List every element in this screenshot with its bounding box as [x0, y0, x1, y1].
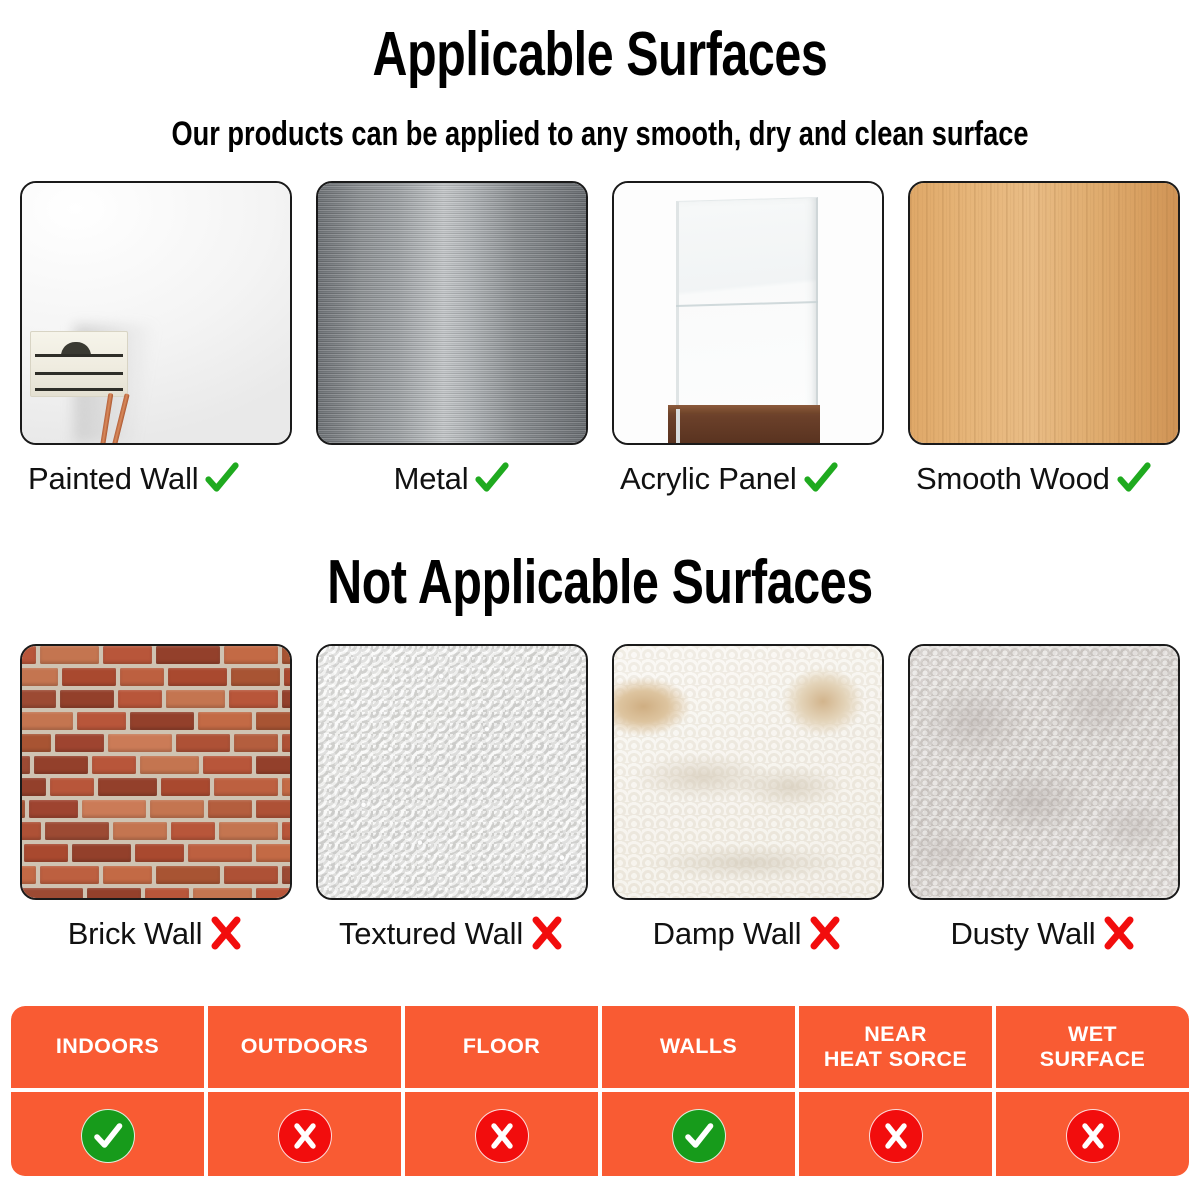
applicable-surfaces-row: Painted Wall Metal: [20, 181, 1180, 501]
brick: [256, 756, 290, 774]
brick: [135, 844, 184, 862]
brick: [92, 756, 136, 774]
cabinet-edge-line: [35, 354, 123, 357]
matrix-header-wet-surface: WETSURFACE: [996, 1006, 1189, 1088]
brick: [55, 734, 104, 752]
surface-image-acrylic-panel: [612, 181, 884, 445]
not-applicable-surfaces-row: Brick Wall Textured Wall: [20, 644, 1180, 956]
brick: [166, 690, 225, 708]
matrix-header-indoors: INDOORS: [11, 1006, 204, 1088]
brick: [208, 800, 252, 818]
matrix-status-indoors: [11, 1092, 204, 1176]
brick: [45, 822, 109, 840]
matrix-header-label: FLOOR: [459, 1034, 544, 1059]
brick-course: [22, 690, 290, 712]
brick: [156, 866, 220, 884]
brushed-metal-texture: [318, 183, 586, 443]
brick: [22, 668, 58, 686]
brick: [40, 866, 99, 884]
textured-wall-texture: [318, 646, 586, 898]
brick: [22, 756, 30, 774]
circle-check-icon: [81, 1109, 135, 1163]
surface-card-dusty-wall: Dusty Wall: [908, 644, 1180, 956]
brick: [108, 734, 172, 752]
brick: [103, 646, 152, 664]
surface-image-textured-wall: [316, 644, 588, 900]
brick: [168, 668, 227, 686]
matrix-header-label: WETSURFACE: [1036, 1022, 1150, 1073]
surface-card-textured-wall: Textured Wall: [316, 644, 588, 956]
brick-course: [22, 800, 290, 822]
brick-course: [22, 866, 290, 888]
brick: [22, 866, 36, 884]
matrix-status-near-heat-source: [799, 1092, 992, 1176]
brick: [50, 778, 94, 796]
check-mark-icon: [474, 460, 510, 496]
matrix-header-label: OUTDOORS: [237, 1034, 372, 1059]
brick-course: [22, 668, 290, 690]
surface-caption-dusty-wall: Dusty Wall: [908, 910, 1180, 956]
applicable-section-title-wrap: Applicable Surfaces: [0, 24, 1200, 86]
brick: [156, 646, 220, 664]
brick: [193, 888, 252, 898]
surface-caption-painted-wall: Painted Wall: [20, 455, 292, 501]
surface-card-acrylic-panel: Acrylic Panel: [612, 181, 884, 501]
matrix-status-wet-surface: [996, 1092, 1189, 1176]
brick: [72, 844, 131, 862]
cross-mark-icon: [807, 914, 843, 952]
surface-image-dusty-wall: [908, 644, 1180, 900]
brick: [29, 800, 78, 818]
brick: [62, 668, 116, 686]
brick: [231, 668, 280, 686]
cross-mark-icon: [208, 914, 244, 952]
matrix-header-near-heat-source: NEARHEAT SORCE: [799, 1006, 992, 1088]
acrylic-sheet: [676, 197, 818, 417]
surface-caption-smooth-wood: Smooth Wood: [908, 455, 1180, 501]
cabinet-edge-line: [35, 372, 123, 375]
acrylic-panel-texture: [614, 183, 882, 443]
smooth-wood-texture: [910, 183, 1178, 443]
surface-card-smooth-wood: Smooth Wood: [908, 181, 1180, 501]
brick: [113, 822, 167, 840]
matrix-header-label: WALLS: [656, 1034, 741, 1059]
applicable-section-title: Applicable Surfaces: [132, 24, 1068, 86]
surface-label: Metal: [394, 463, 469, 494]
brick: [282, 866, 290, 884]
surface-image-brick-wall: [20, 644, 292, 900]
brick: [282, 822, 290, 840]
cabinet-edge-line: [35, 388, 123, 391]
infographic-page: Applicable Surfaces Our products can be …: [0, 0, 1200, 1200]
brick-course: [22, 888, 290, 898]
brick: [145, 888, 189, 898]
surface-label: Textured Wall: [339, 918, 523, 949]
surface-label: Smooth Wood: [916, 463, 1110, 494]
check-mark-icon: [1116, 460, 1152, 496]
surface-card-metal: Metal: [316, 181, 588, 501]
brick-course: [22, 712, 290, 734]
circle-cross-icon: [278, 1109, 332, 1163]
surface-label: Acrylic Panel: [620, 463, 797, 494]
brick: [282, 690, 290, 708]
brick: [22, 822, 41, 840]
brick: [224, 866, 278, 884]
brick: [22, 778, 46, 796]
usage-matrix-table: INDOORS OUTDOORS FLOOR WALLS NEARHEAT SO…: [11, 1006, 1189, 1176]
surface-image-painted-wall: [20, 181, 292, 445]
brick: [256, 888, 290, 898]
brick: [98, 778, 157, 796]
surface-label: Damp Wall: [653, 918, 802, 949]
surface-caption-metal: Metal: [316, 455, 588, 501]
wood-base-top: [668, 405, 820, 414]
circle-cross-icon: [869, 1109, 923, 1163]
brick-course: [22, 822, 290, 844]
not-applicable-section-title-wrap: Not Applicable Surfaces: [0, 552, 1200, 614]
wood-base-slot: [676, 409, 680, 443]
brick-course: [22, 844, 290, 866]
brick-course: [22, 778, 290, 800]
damp-wall-texture: [614, 646, 882, 898]
brick: [150, 800, 204, 818]
brick: [60, 690, 114, 708]
matrix-header-floor: FLOOR: [405, 1006, 598, 1088]
brick: [188, 844, 252, 862]
applicable-section-subtitle: Our products can be applied to any smoot…: [120, 117, 1080, 151]
brick: [256, 844, 290, 862]
surface-card-brick-wall: Brick Wall: [20, 644, 292, 956]
brick: [171, 822, 215, 840]
brick: [130, 712, 194, 730]
cross-mark-icon: [529, 914, 565, 952]
brick-course: [22, 646, 290, 668]
matrix-header-walls: WALLS: [602, 1006, 795, 1088]
brick-course: [22, 734, 290, 756]
brick: [22, 712, 73, 730]
brick: [203, 756, 252, 774]
brick: [282, 778, 290, 796]
brick: [140, 756, 199, 774]
brick: [282, 734, 290, 752]
surface-card-painted-wall: Painted Wall: [20, 181, 292, 501]
brick: [214, 778, 278, 796]
surface-caption-brick-wall: Brick Wall: [20, 910, 292, 956]
brick: [229, 690, 278, 708]
brick: [256, 800, 290, 818]
matrix-header-label: NEARHEAT SORCE: [820, 1022, 971, 1073]
check-mark-icon: [803, 460, 839, 496]
brick: [22, 800, 25, 818]
surface-label: Brick Wall: [68, 918, 203, 949]
brick: [224, 646, 278, 664]
cross-mark-icon: [1101, 914, 1137, 952]
check-mark-icon: [204, 460, 240, 496]
dusty-wall-texture: [910, 646, 1178, 898]
brick: [198, 712, 252, 730]
brick: [284, 668, 290, 686]
circle-check-icon: [672, 1109, 726, 1163]
brick: [34, 756, 88, 774]
brick-wall-texture: [22, 646, 290, 898]
brick: [22, 734, 51, 752]
surface-label: Dusty Wall: [951, 918, 1096, 949]
painted-wall-texture: [22, 183, 290, 443]
brick: [176, 734, 230, 752]
matrix-header-label: INDOORS: [52, 1034, 163, 1059]
surface-image-smooth-wood: [908, 181, 1180, 445]
not-applicable-section-title: Not Applicable Surfaces: [132, 552, 1068, 614]
brick: [22, 690, 56, 708]
brick: [22, 888, 83, 898]
matrix-status-outdoors: [208, 1092, 401, 1176]
surface-caption-textured-wall: Textured Wall: [316, 910, 588, 956]
brick: [87, 888, 141, 898]
matrix-status-walls: [602, 1092, 795, 1176]
surface-card-damp-wall: Damp Wall: [612, 644, 884, 956]
surface-caption-damp-wall: Damp Wall: [612, 910, 884, 956]
brick: [118, 690, 162, 708]
surface-label: Painted Wall: [28, 463, 198, 494]
brick: [120, 668, 164, 686]
surface-caption-acrylic-panel: Acrylic Panel: [612, 455, 884, 501]
circle-cross-icon: [475, 1109, 529, 1163]
brick: [234, 734, 278, 752]
brick: [282, 646, 290, 664]
brick: [82, 800, 146, 818]
wood-base: [668, 405, 820, 445]
circle-cross-icon: [1066, 1109, 1120, 1163]
cabinet-furniture: [30, 331, 128, 397]
brick: [219, 822, 278, 840]
brick: [40, 646, 99, 664]
applicable-section-subtitle-wrap: Our products can be applied to any smoot…: [0, 117, 1200, 151]
brick: [161, 778, 210, 796]
brick: [256, 712, 290, 730]
matrix-header-outdoors: OUTDOORS: [208, 1006, 401, 1088]
brick: [103, 866, 152, 884]
surface-image-damp-wall: [612, 644, 884, 900]
matrix-status-floor: [405, 1092, 598, 1176]
brick: [24, 844, 68, 862]
surface-image-metal: [316, 181, 588, 445]
brick-course: [22, 756, 290, 778]
brick: [77, 712, 126, 730]
brick: [22, 646, 36, 664]
